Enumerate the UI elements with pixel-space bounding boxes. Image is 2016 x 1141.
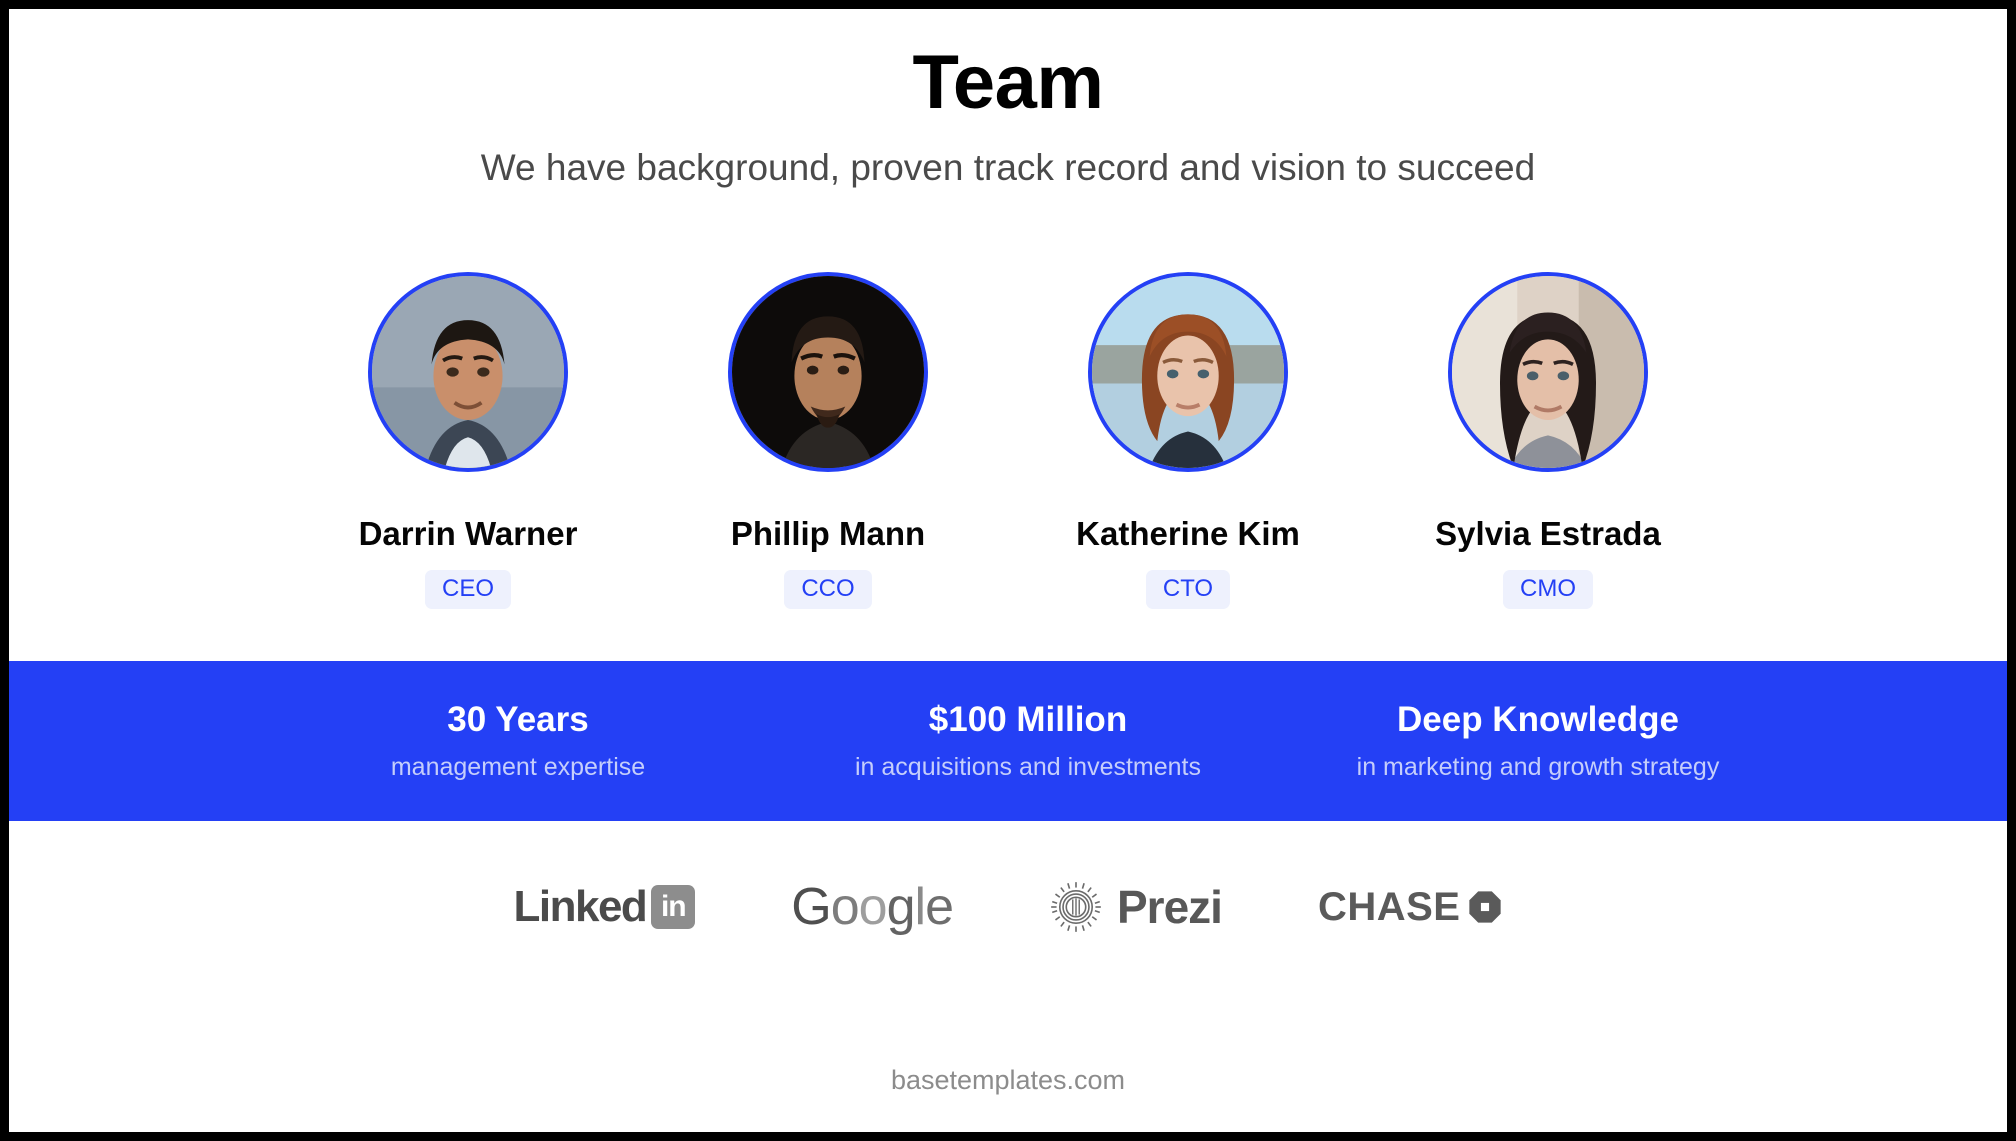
linkedin-wordmark: Linked bbox=[514, 885, 647, 929]
logo-chase: CHASE bbox=[1318, 879, 1503, 935]
google-letter: l bbox=[915, 878, 926, 936]
stats-list: 30 Years management expertise $100 Milli… bbox=[278, 701, 1738, 781]
stat-value: Deep Knowledge bbox=[1338, 701, 1738, 740]
stat-label: in marketing and growth strategy bbox=[1338, 753, 1738, 782]
page-title: Team bbox=[9, 43, 2007, 124]
avatar bbox=[368, 272, 568, 472]
team-member-name: Sylvia Estrada bbox=[1418, 516, 1678, 552]
avatar bbox=[1448, 272, 1648, 472]
team-member-card[interactable]: Phillip Mann CCO bbox=[698, 272, 958, 609]
logo-google: Google bbox=[791, 879, 953, 935]
stat-item: Deep Knowledge in marketing and growth s… bbox=[1338, 701, 1738, 781]
slide-canvas: Team We have background, proven track re… bbox=[9, 9, 2007, 1132]
avatar bbox=[1088, 272, 1288, 472]
google-letter: G bbox=[791, 878, 830, 936]
logo-prezi: Prezi bbox=[1049, 879, 1222, 935]
stat-item: 30 Years management expertise bbox=[318, 701, 718, 781]
team-member-card[interactable]: Katherine Kim CTO bbox=[1058, 272, 1318, 609]
google-letter: o bbox=[831, 878, 859, 936]
team-member-card[interactable]: Sylvia Estrada CMO bbox=[1418, 272, 1678, 609]
linkedin-in-icon: in bbox=[651, 885, 695, 929]
stat-label: in acquisitions and investments bbox=[828, 753, 1228, 782]
status-badge: CEO bbox=[425, 570, 511, 609]
chase-octagon-icon bbox=[1468, 890, 1502, 924]
team-member-name: Darrin Warner bbox=[338, 516, 598, 552]
status-badge: CCO bbox=[784, 570, 871, 609]
avatar-darrin-warner bbox=[372, 276, 564, 468]
avatar-phillip-mann bbox=[732, 276, 924, 468]
team-member-name: Katherine Kim bbox=[1058, 516, 1318, 552]
chase-wordmark: CHASE bbox=[1318, 887, 1461, 927]
prezi-wordmark: Prezi bbox=[1117, 884, 1222, 930]
prezi-sunburst-icon bbox=[1049, 880, 1103, 934]
team-member-list: Darrin Warner CEO Phillip Mann bbox=[9, 272, 2007, 609]
team-member-card[interactable]: Darrin Warner CEO bbox=[338, 272, 598, 609]
avatar-sylvia-estrada bbox=[1452, 276, 1644, 468]
slide-header: Team We have background, proven track re… bbox=[9, 9, 2007, 190]
stat-label: management expertise bbox=[318, 753, 718, 782]
stat-value: 30 Years bbox=[318, 701, 718, 740]
google-letter: o bbox=[859, 878, 887, 936]
avatar bbox=[728, 272, 928, 472]
status-badge: CTO bbox=[1146, 570, 1230, 609]
logo-linkedin: Linked in bbox=[514, 879, 696, 935]
avatar-katherine-kim bbox=[1092, 276, 1284, 468]
google-letter: g bbox=[887, 878, 915, 936]
stats-band: 30 Years management expertise $100 Milli… bbox=[9, 661, 2007, 821]
slide-footer: basetemplates.com bbox=[9, 1067, 2007, 1132]
page-subtitle: We have background, proven track record … bbox=[9, 146, 2007, 190]
stat-item: $100 Million in acquisitions and investm… bbox=[828, 701, 1228, 781]
stat-value: $100 Million bbox=[828, 701, 1228, 740]
google-letter: e bbox=[925, 878, 953, 936]
logo-list: Linked in Google bbox=[9, 821, 2007, 1067]
team-member-name: Phillip Mann bbox=[698, 516, 958, 552]
google-wordmark: Google bbox=[791, 881, 953, 933]
status-badge: CMO bbox=[1503, 570, 1593, 609]
footer-attribution: basetemplates.com bbox=[891, 1065, 1125, 1095]
